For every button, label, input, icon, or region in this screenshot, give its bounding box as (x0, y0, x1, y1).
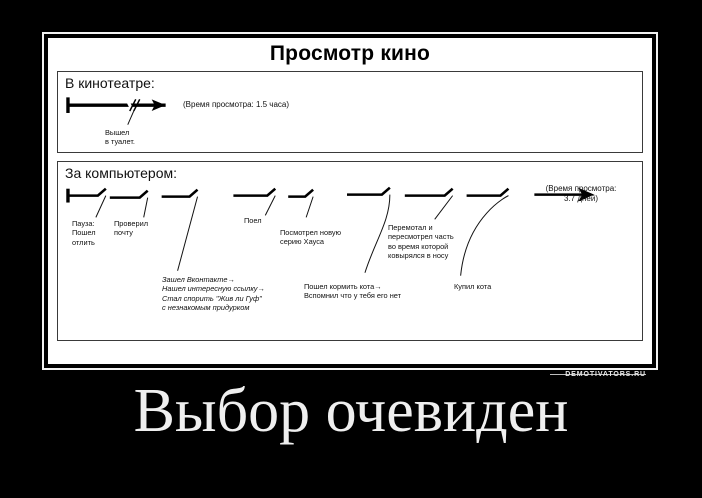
annotation-cat-feed: Пошел кормить кота→ Вспомнил что у тебя … (304, 282, 401, 301)
cinema-duration-label: (Время просмотра: 1.5 часа) (183, 100, 289, 110)
annotation-toilet: Вышел в туалет. (105, 128, 135, 147)
panel-cinema: В кинотеатре: (Время просмотра: 1.5 часа (57, 71, 643, 153)
demotivator-poster: Просмотр кино В кинотеатре: (0, 0, 702, 498)
annotation-ate: Поел (244, 216, 262, 225)
cinema-timeline-graphic (58, 72, 642, 152)
panel-computer: За компьютером: (57, 161, 643, 341)
annotation-pause: Пауза: Пошел отлить (72, 219, 96, 247)
annotation-cat-buy: Купил кота (454, 282, 491, 291)
page-title: Просмотр кино (48, 42, 652, 66)
annotation-house: Посмотрел новую серию Хауса (280, 228, 341, 247)
computer-duration-label: (Время просмотра: 3.7 дней) (526, 184, 636, 204)
annotation-vk: Зашел Вконтакте→ Нашел интересную ссылку… (162, 275, 265, 313)
poster-caption: Выбор очевиден (0, 378, 702, 444)
poster-card: Просмотр кино В кинотеатре: (48, 38, 652, 364)
annotation-rewind: Перемотал и пересмотрел часть во время к… (388, 223, 454, 261)
annotation-mail: Проверил почту (114, 219, 148, 238)
poster-frame: Просмотр кино В кинотеатре: (42, 32, 658, 370)
